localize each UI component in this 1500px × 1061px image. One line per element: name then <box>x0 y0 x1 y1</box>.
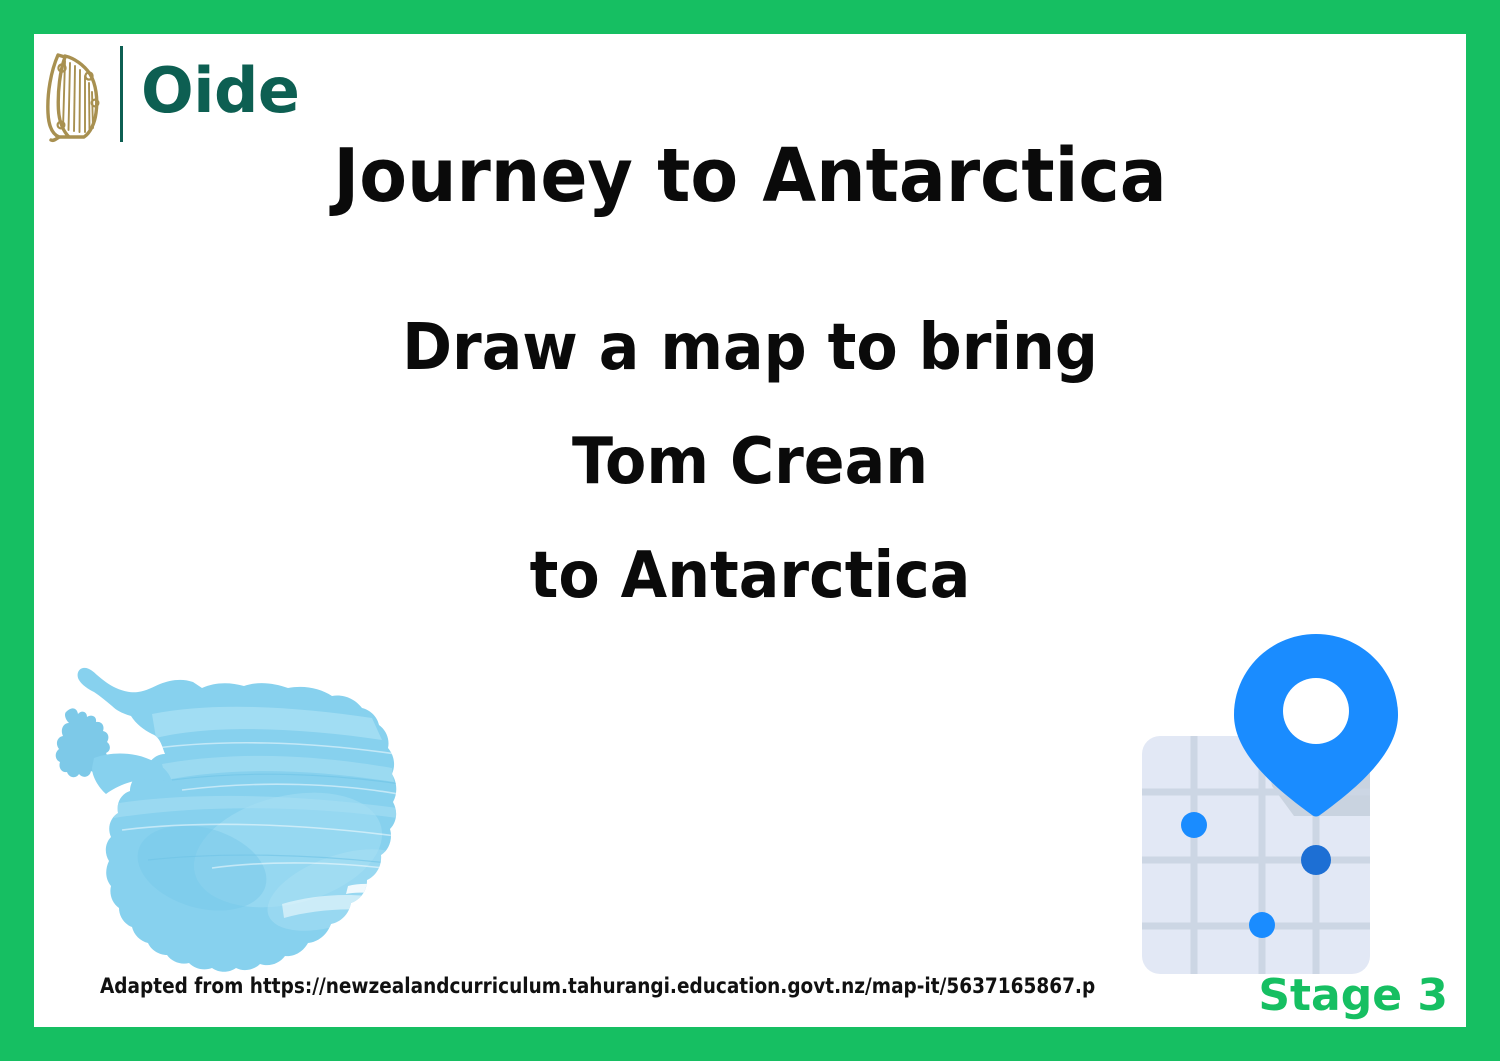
instruction-line-1: Draw a map to bring <box>77 292 1423 406</box>
source-note: Adapted from https://newzealandcurriculu… <box>100 974 1068 998</box>
map-with-pin-icon <box>1094 620 1414 980</box>
logo-divider <box>120 46 123 142</box>
instruction-line-2: Tom Crean <box>77 406 1423 520</box>
instruction-text: Draw a map to bring Tom Crean to Antarct… <box>77 292 1423 634</box>
page-title: Journey to Antarctica <box>77 138 1423 216</box>
instruction-line-3: to Antarctica <box>77 520 1423 634</box>
harp-icon <box>36 42 108 146</box>
slide-border: Oide Journey to Antarctica Draw a map to… <box>0 0 1500 1061</box>
map-dot-2 <box>1301 845 1331 875</box>
antarctica-map-illustration <box>52 654 412 974</box>
slide-canvas: Oide Journey to Antarctica Draw a map to… <box>34 34 1466 1027</box>
map-dot-1 <box>1181 812 1207 838</box>
oide-logo-lockup: Oide <box>34 40 299 148</box>
map-dot-3 <box>1249 912 1275 938</box>
brand-name: Oide <box>141 60 299 128</box>
stage-badge: Stage 3 <box>1258 970 1448 1021</box>
